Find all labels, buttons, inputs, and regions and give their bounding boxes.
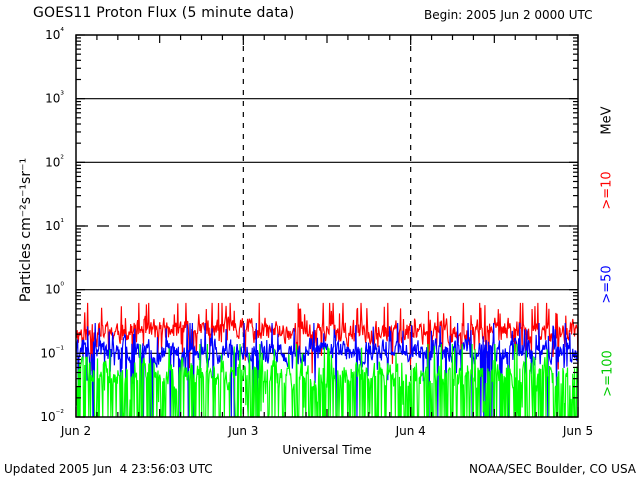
proton-flux-chart: 10⁴10³10²10¹10⁰10⁻¹10⁻² Jun 2Jun 3Jun 4J…	[0, 0, 640, 480]
data-series	[76, 303, 578, 417]
x-tick-label: Jun 4	[395, 424, 426, 438]
x-tick-labels: Jun 2Jun 3Jun 4Jun 5	[60, 424, 593, 438]
x-tick-label: Jun 3	[227, 424, 258, 438]
y-tick-label: 10⁻¹	[40, 345, 64, 360]
y-tick-label: 10⁰	[45, 282, 64, 297]
x-tick-label: Jun 2	[60, 424, 91, 438]
y-tick-label: 10⁻²	[40, 409, 64, 424]
y-tick-label: 10¹	[45, 218, 64, 233]
x-tick-label: Jun 5	[562, 424, 593, 438]
y-tick-label: 10²	[45, 154, 64, 169]
y-tick-label: 10⁴	[45, 27, 64, 42]
plot-page: GOES11 Proton Flux (5 minute data) Begin…	[0, 0, 640, 480]
y-tick-label: 10³	[45, 91, 64, 106]
y-tick-labels: 10⁴10³10²10¹10⁰10⁻¹10⁻²	[40, 27, 64, 424]
